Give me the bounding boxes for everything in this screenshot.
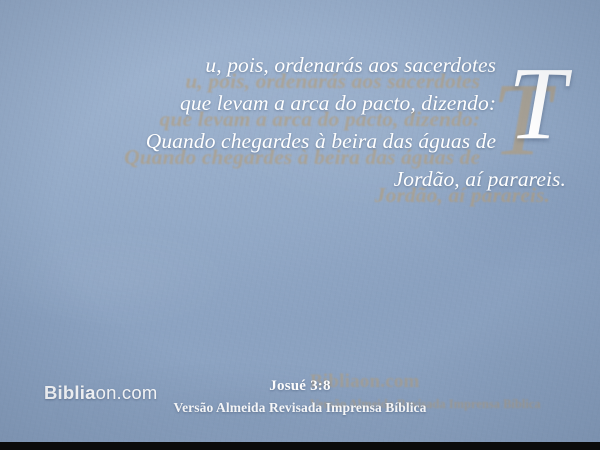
verse-line: Quando chegardes à beira das águas de	[34, 122, 566, 160]
reference-group: Josué 3:8 Versão Almeida Revisada Impren…	[0, 378, 600, 416]
verse-text-block: T u, pois, ordenarás aos sacerdotes que …	[0, 46, 600, 346]
verse-line: u, pois, ordenarás aos sacerdotes	[34, 46, 566, 84]
footer: Bibliaon.com Josué 3:8 Versão Almeida Re…	[0, 378, 600, 424]
bottom-bar	[0, 442, 600, 450]
bible-version-label: Versão Almeida Revisada Imprensa Bíblica	[0, 400, 600, 416]
verse-reference: Josué 3:8	[0, 378, 600, 395]
verse-dropcap: T	[508, 52, 566, 145]
verse-image-card: T u, pois, ordenarás aos sacerdotes que …	[0, 0, 600, 450]
verse-line: Jordão, aí parareis.	[34, 160, 566, 198]
verse-line: que levam a arca do pacto, dizendo:	[34, 84, 566, 122]
